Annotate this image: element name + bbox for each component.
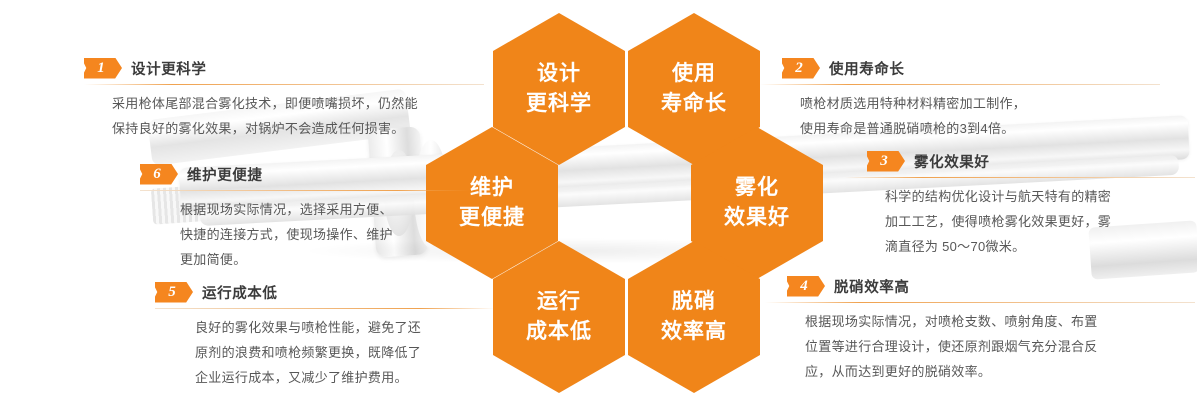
feature-head-denitration: 4 脱硝效率高 (765, 275, 1195, 297)
feature-line: 滴直径为 50～70微米。 (885, 235, 1195, 260)
feature-line: 科学的结构优化设计与航天特有的精密 (885, 185, 1195, 210)
feature-line: 良好的雾化效果与喷枪性能，避免了还 (195, 316, 495, 341)
feature-line: 根据现场实际情况，选择采用方便、 (180, 198, 470, 223)
hex-lifespan-line1: 使用 (672, 59, 716, 89)
badge-number-6: 6 (153, 166, 161, 183)
feature-block-lifespan: 2 使用寿命长 喷枪材质选用特种材料精密加工制作， 使用寿命是普通脱硝喷枪的3到… (760, 57, 1160, 142)
feature-line: 采用枪体尾部混合雾化技术，即便喷嘴损坏，仍然能 (112, 92, 484, 117)
hex-denitration-line1: 脱硝 (672, 287, 716, 317)
feature-head-maintenance: 6 维护更便捷 (140, 163, 470, 185)
feature-line: 保持良好的雾化效果，对锅炉不会造成任何损害。 (112, 117, 484, 142)
feature-title-denitration: 脱硝效率高 (834, 276, 910, 297)
hex-atomization-line2: 效果好 (724, 203, 790, 233)
feature-block-atomization: 3 雾化效果好 科学的结构优化设计与航天特有的精密 加工工艺，使得喷枪雾化效果更… (845, 150, 1195, 260)
number-badge-2-icon: 2 (782, 58, 820, 79)
feature-block-maintenance: 6 维护更便捷 根据现场实际情况，选择采用方便、 快捷的连接方式，使现场操作、维… (140, 163, 470, 273)
badge-number-1: 1 (97, 60, 105, 77)
feature-line: 根据现场实际情况，对喷枪支数、喷射角度、布置 (805, 310, 1195, 335)
feature-line: 加工工艺，使得喷枪雾化效果更好，雾 (885, 210, 1195, 235)
number-badge-6-icon: 6 (140, 164, 178, 185)
hex-design-line2: 更科学 (526, 89, 592, 119)
hex-maintenance-line1: 维护 (470, 173, 514, 203)
feature-title-maintenance: 维护更便捷 (187, 164, 263, 185)
divider-lifespan (760, 84, 1160, 85)
hex-atomization-line1: 雾化 (735, 173, 779, 203)
hex-cost-line1: 运行 (537, 287, 581, 317)
feature-body-atomization: 科学的结构优化设计与航天特有的精密 加工工艺，使得喷枪雾化效果更好，雾 滴直径为… (845, 185, 1195, 260)
badge-number-2: 2 (795, 60, 803, 77)
feature-head-atomization: 3 雾化效果好 (845, 150, 1195, 172)
divider-design (84, 84, 484, 85)
feature-head-design: 1 设计更科学 (84, 57, 484, 79)
feature-line: 更加简便。 (180, 248, 470, 273)
number-badge-5-icon: 5 (155, 282, 193, 303)
feature-body-lifespan: 喷枪材质选用特种材料精密加工制作， 使用寿命是普通脱硝喷枪的3到4倍。 (760, 92, 1160, 142)
badge-number-4: 4 (800, 278, 808, 295)
hex-lifespan-line2: 寿命长 (661, 89, 727, 119)
feature-title-atomization: 雾化效果好 (914, 151, 990, 172)
divider-atomization (845, 177, 1195, 178)
feature-title-design: 设计更科学 (131, 58, 207, 79)
feature-title-cost: 运行成本低 (202, 282, 278, 303)
infographic-canvas: 设计 更科学 使用 寿命长 维护 更便捷 雾化 效果好 运行 成本低 脱硝 效率… (0, 0, 1197, 413)
feature-line: 使用寿命是普通脱硝喷枪的3到4倍。 (800, 117, 1160, 142)
feature-block-cost: 5 运行成本低 良好的雾化效果与喷枪性能，避免了还 原剂的浪费和喷枪频繁更换，既… (155, 281, 495, 391)
feature-body-denitration: 根据现场实际情况，对喷枪支数、喷射角度、布置 位置等进行合理设计，使还原剂跟烟气… (765, 310, 1195, 385)
badge-number-3: 3 (880, 153, 888, 170)
feature-line: 喷枪材质选用特种材料精密加工制作， (800, 92, 1160, 117)
hex-cost-line2: 成本低 (526, 317, 592, 347)
feature-head-cost: 5 运行成本低 (155, 281, 495, 303)
hex-design-line1: 设计 (537, 59, 581, 89)
divider-denitration (765, 302, 1195, 303)
feature-body-maintenance: 根据现场实际情况，选择采用方便、 快捷的连接方式，使现场操作、维护 更加简便。 (140, 198, 470, 273)
feature-line: 企业运行成本，又减少了维护费用。 (195, 366, 495, 391)
feature-body-cost: 良好的雾化效果与喷枪性能，避免了还 原剂的浪费和喷枪频繁更换，既降低了 企业运行… (155, 316, 495, 391)
number-badge-3-icon: 3 (867, 151, 905, 172)
feature-line: 快捷的连接方式，使现场操作、维护 (180, 223, 470, 248)
number-badge-4-icon: 4 (787, 276, 825, 297)
badge-number-5: 5 (168, 284, 176, 301)
feature-head-lifespan: 2 使用寿命长 (760, 57, 1160, 79)
number-badge-1-icon: 1 (84, 58, 122, 79)
feature-block-denitration: 4 脱硝效率高 根据现场实际情况，对喷枪支数、喷射角度、布置 位置等进行合理设计… (765, 275, 1195, 385)
divider-maintenance (140, 190, 470, 191)
feature-body-design: 采用枪体尾部混合雾化技术，即便喷嘴损坏，仍然能 保持良好的雾化效果，对锅炉不会造… (84, 92, 484, 142)
feature-line: 位置等进行合理设计，使还原剂跟烟气充分混合反 (805, 335, 1195, 360)
hex-denitration-line2: 效率高 (661, 317, 727, 347)
feature-line: 应，从而达到更好的脱硝效率。 (805, 360, 1195, 385)
feature-line: 原剂的浪费和喷枪频繁更换，既降低了 (195, 341, 495, 366)
feature-block-design: 1 设计更科学 采用枪体尾部混合雾化技术，即便喷嘴损坏，仍然能 保持良好的雾化效… (84, 57, 484, 142)
feature-title-lifespan: 使用寿命长 (829, 58, 905, 79)
divider-cost (155, 308, 495, 309)
